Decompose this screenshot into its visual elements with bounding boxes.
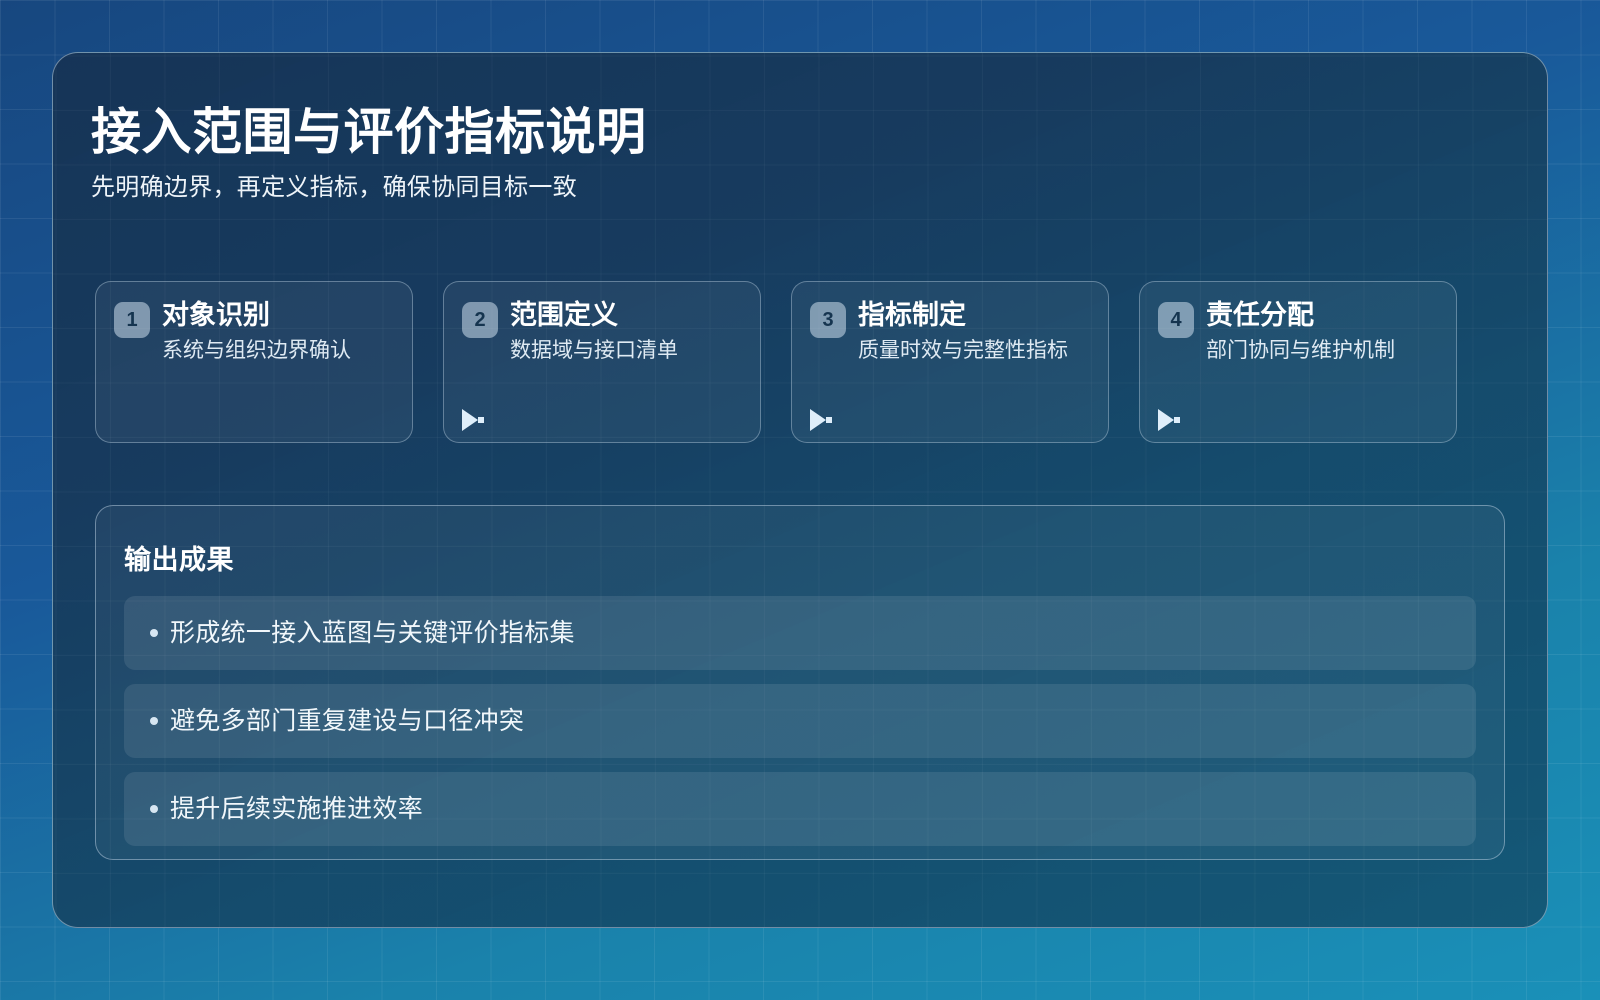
step-number-badge-3: 3: [810, 302, 846, 338]
page-title: 接入范围与评价指标说明: [91, 103, 1471, 162]
header: 接入范围与评价指标说明 先明确边界，再定义指标，确保协同目标一致: [91, 103, 1471, 203]
step-card-1-content: 1 对象识别 系统与组织边界确认: [114, 300, 412, 363]
step-title-1: 对象识别: [162, 300, 351, 331]
main-content-panel: 接入范围与评价指标说明 先明确边界，再定义指标，确保协同目标一致 1 对象识别 …: [52, 52, 1548, 928]
list-item[interactable]: 避免多部门重复建设与口径冲突: [124, 684, 1476, 758]
step-card-1-texts: 对象识别 系统与组织边界确认: [162, 300, 351, 363]
step-card-2-texts: 范围定义 数据域与接口清单: [510, 300, 678, 363]
step-card-2[interactable]: 2 范围定义 数据域与接口清单: [443, 281, 761, 443]
output-item-text: 避免多部门重复建设与口径冲突: [170, 706, 524, 736]
step-number-badge-4: 4: [1158, 302, 1194, 338]
outputs-panel: 输出成果 形成统一接入蓝图与关键评价指标集 避免多部门重复建设与口径冲突 提升后…: [95, 505, 1505, 860]
slide-root: 接入范围与评价指标说明 先明确边界，再定义指标，确保协同目标一致 1 对象识别 …: [0, 0, 1600, 1000]
step-card-1[interactable]: 1 对象识别 系统与组织边界确认: [95, 281, 413, 443]
step-card-3-content: 3 指标制定 质量时效与完整性指标: [810, 300, 1108, 363]
list-item[interactable]: 形成统一接入蓝图与关键评价指标集: [124, 596, 1476, 670]
arrow-right-icon: [1155, 407, 1183, 433]
step-card-3-texts: 指标制定 质量时效与完整性指标: [858, 300, 1068, 363]
step-desc-3: 质量时效与完整性指标: [858, 338, 1068, 363]
output-item-text: 形成统一接入蓝图与关键评价指标集: [170, 618, 575, 648]
step-card-3[interactable]: 3 指标制定 质量时效与完整性指标: [791, 281, 1109, 443]
step-number-badge-1: 1: [114, 302, 150, 338]
step-number-badge-2: 2: [462, 302, 498, 338]
outputs-title: 输出成果: [124, 538, 234, 577]
step-card-4[interactable]: 4 责任分配 部门协同与维护机制: [1139, 281, 1457, 443]
step-title-3: 指标制定: [858, 300, 1068, 331]
step-desc-1: 系统与组织边界确认: [162, 338, 351, 363]
bullet-icon: [150, 717, 158, 725]
outputs-list: 形成统一接入蓝图与关键评价指标集 避免多部门重复建设与口径冲突 提升后续实施推进…: [124, 596, 1476, 846]
bullet-icon: [150, 629, 158, 637]
arrow-right-icon: [807, 407, 835, 433]
step-desc-4: 部门协同与维护机制: [1206, 338, 1395, 363]
bullet-icon: [150, 805, 158, 813]
output-item-text: 提升后续实施推进效率: [170, 794, 423, 824]
list-item[interactable]: 提升后续实施推进效率: [124, 772, 1476, 846]
page-subtitle: 先明确边界，再定义指标，确保协同目标一致: [91, 172, 1471, 203]
steps-row: 1 对象识别 系统与组织边界确认 2 范围定义 数据域与接口清单: [95, 281, 1505, 453]
step-title-2: 范围定义: [510, 300, 678, 331]
arrow-right-icon: [459, 407, 487, 433]
step-title-4: 责任分配: [1206, 300, 1395, 331]
step-desc-2: 数据域与接口清单: [510, 338, 678, 363]
step-card-4-content: 4 责任分配 部门协同与维护机制: [1158, 300, 1456, 363]
step-card-4-texts: 责任分配 部门协同与维护机制: [1206, 300, 1395, 363]
step-card-2-content: 2 范围定义 数据域与接口清单: [462, 300, 760, 363]
